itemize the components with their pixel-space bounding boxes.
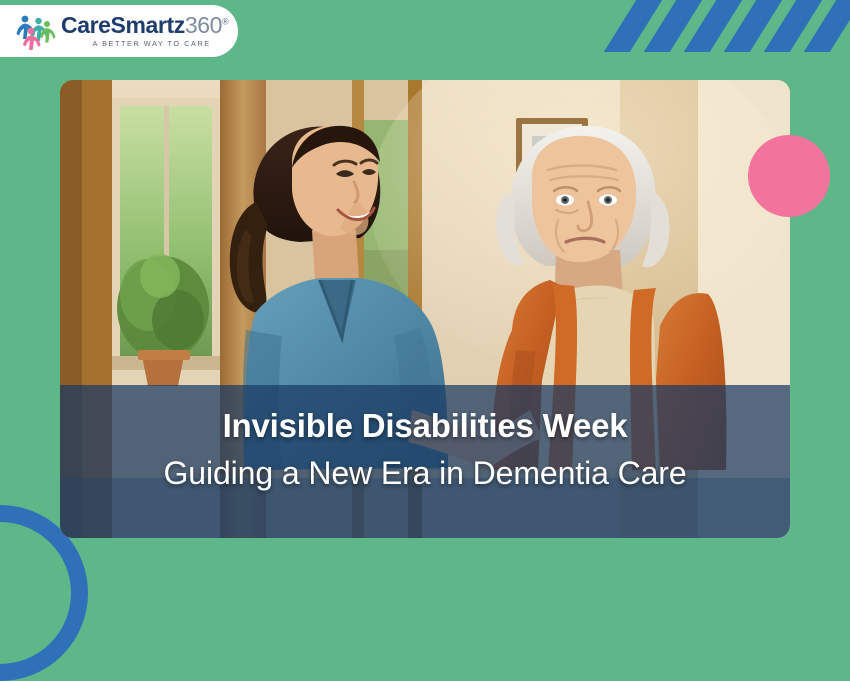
pink-circle-decoration xyxy=(748,135,830,217)
brand-name-secondary: 360 xyxy=(185,12,222,38)
brand-logo-text: CareSmartz360® A BETTER WAY TO CARE xyxy=(61,14,228,47)
hero-subtitle: Guiding a New Era in Dementia Care xyxy=(163,455,686,492)
registered-trademark-icon: ® xyxy=(222,17,228,27)
hero-image-card: Invisible Disabilities Week Guiding a Ne… xyxy=(60,80,790,538)
hero-title-overlay: Invisible Disabilities Week Guiding a Ne… xyxy=(60,385,790,538)
hero-title: Invisible Disabilities Week xyxy=(223,407,628,445)
caresmartz-people-icon xyxy=(14,12,58,50)
brand-wordmark: CareSmartz360® xyxy=(61,14,228,37)
brand-tagline: A BETTER WAY TO CARE xyxy=(61,40,228,47)
brand-logo[interactable]: CareSmartz360® A BETTER WAY TO CARE xyxy=(0,5,238,57)
diagonal-stripes-decoration xyxy=(600,0,850,52)
brand-name-primary: CareSmartz xyxy=(61,12,185,38)
